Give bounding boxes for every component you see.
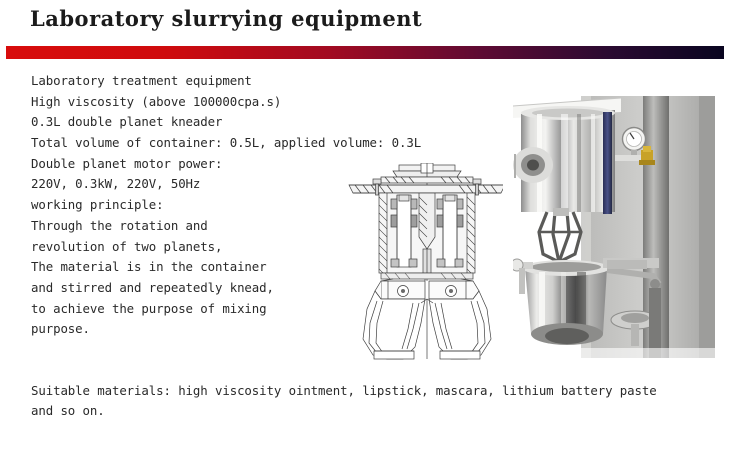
gauge-arm bbox=[615, 155, 643, 161]
product-photo bbox=[503, 62, 725, 380]
page-title: Laboratory slurrying equipment bbox=[30, 6, 422, 31]
footer-line: Suitable materials: high viscosity ointm… bbox=[31, 381, 711, 401]
spec-line: 0.3L double planet kneader bbox=[31, 112, 431, 133]
gradient-divider bbox=[6, 44, 724, 57]
spec-line: High viscosity (above 100000cpa.s) bbox=[31, 92, 431, 113]
hydraulic-hose bbox=[603, 112, 612, 214]
diagram-linework bbox=[349, 163, 505, 359]
mixer-cutaway-svg bbox=[341, 163, 513, 363]
mixer-photo-svg bbox=[503, 62, 725, 380]
footer-line: and so on. bbox=[31, 401, 711, 421]
suitable-materials-text: Suitable materials: high viscosity ointm… bbox=[31, 381, 711, 421]
gradient-divider-svg bbox=[6, 46, 724, 59]
planetary-mixing-blades bbox=[539, 212, 581, 262]
spec-line: Laboratory treatment equipment bbox=[31, 71, 431, 92]
double-planetary-mixer-diagram bbox=[341, 163, 513, 363]
slide-canvas: Laboratory slurrying equipment Laborator… bbox=[0, 0, 730, 450]
spec-line: Total volume of container: 0.5L, applied… bbox=[31, 133, 431, 154]
